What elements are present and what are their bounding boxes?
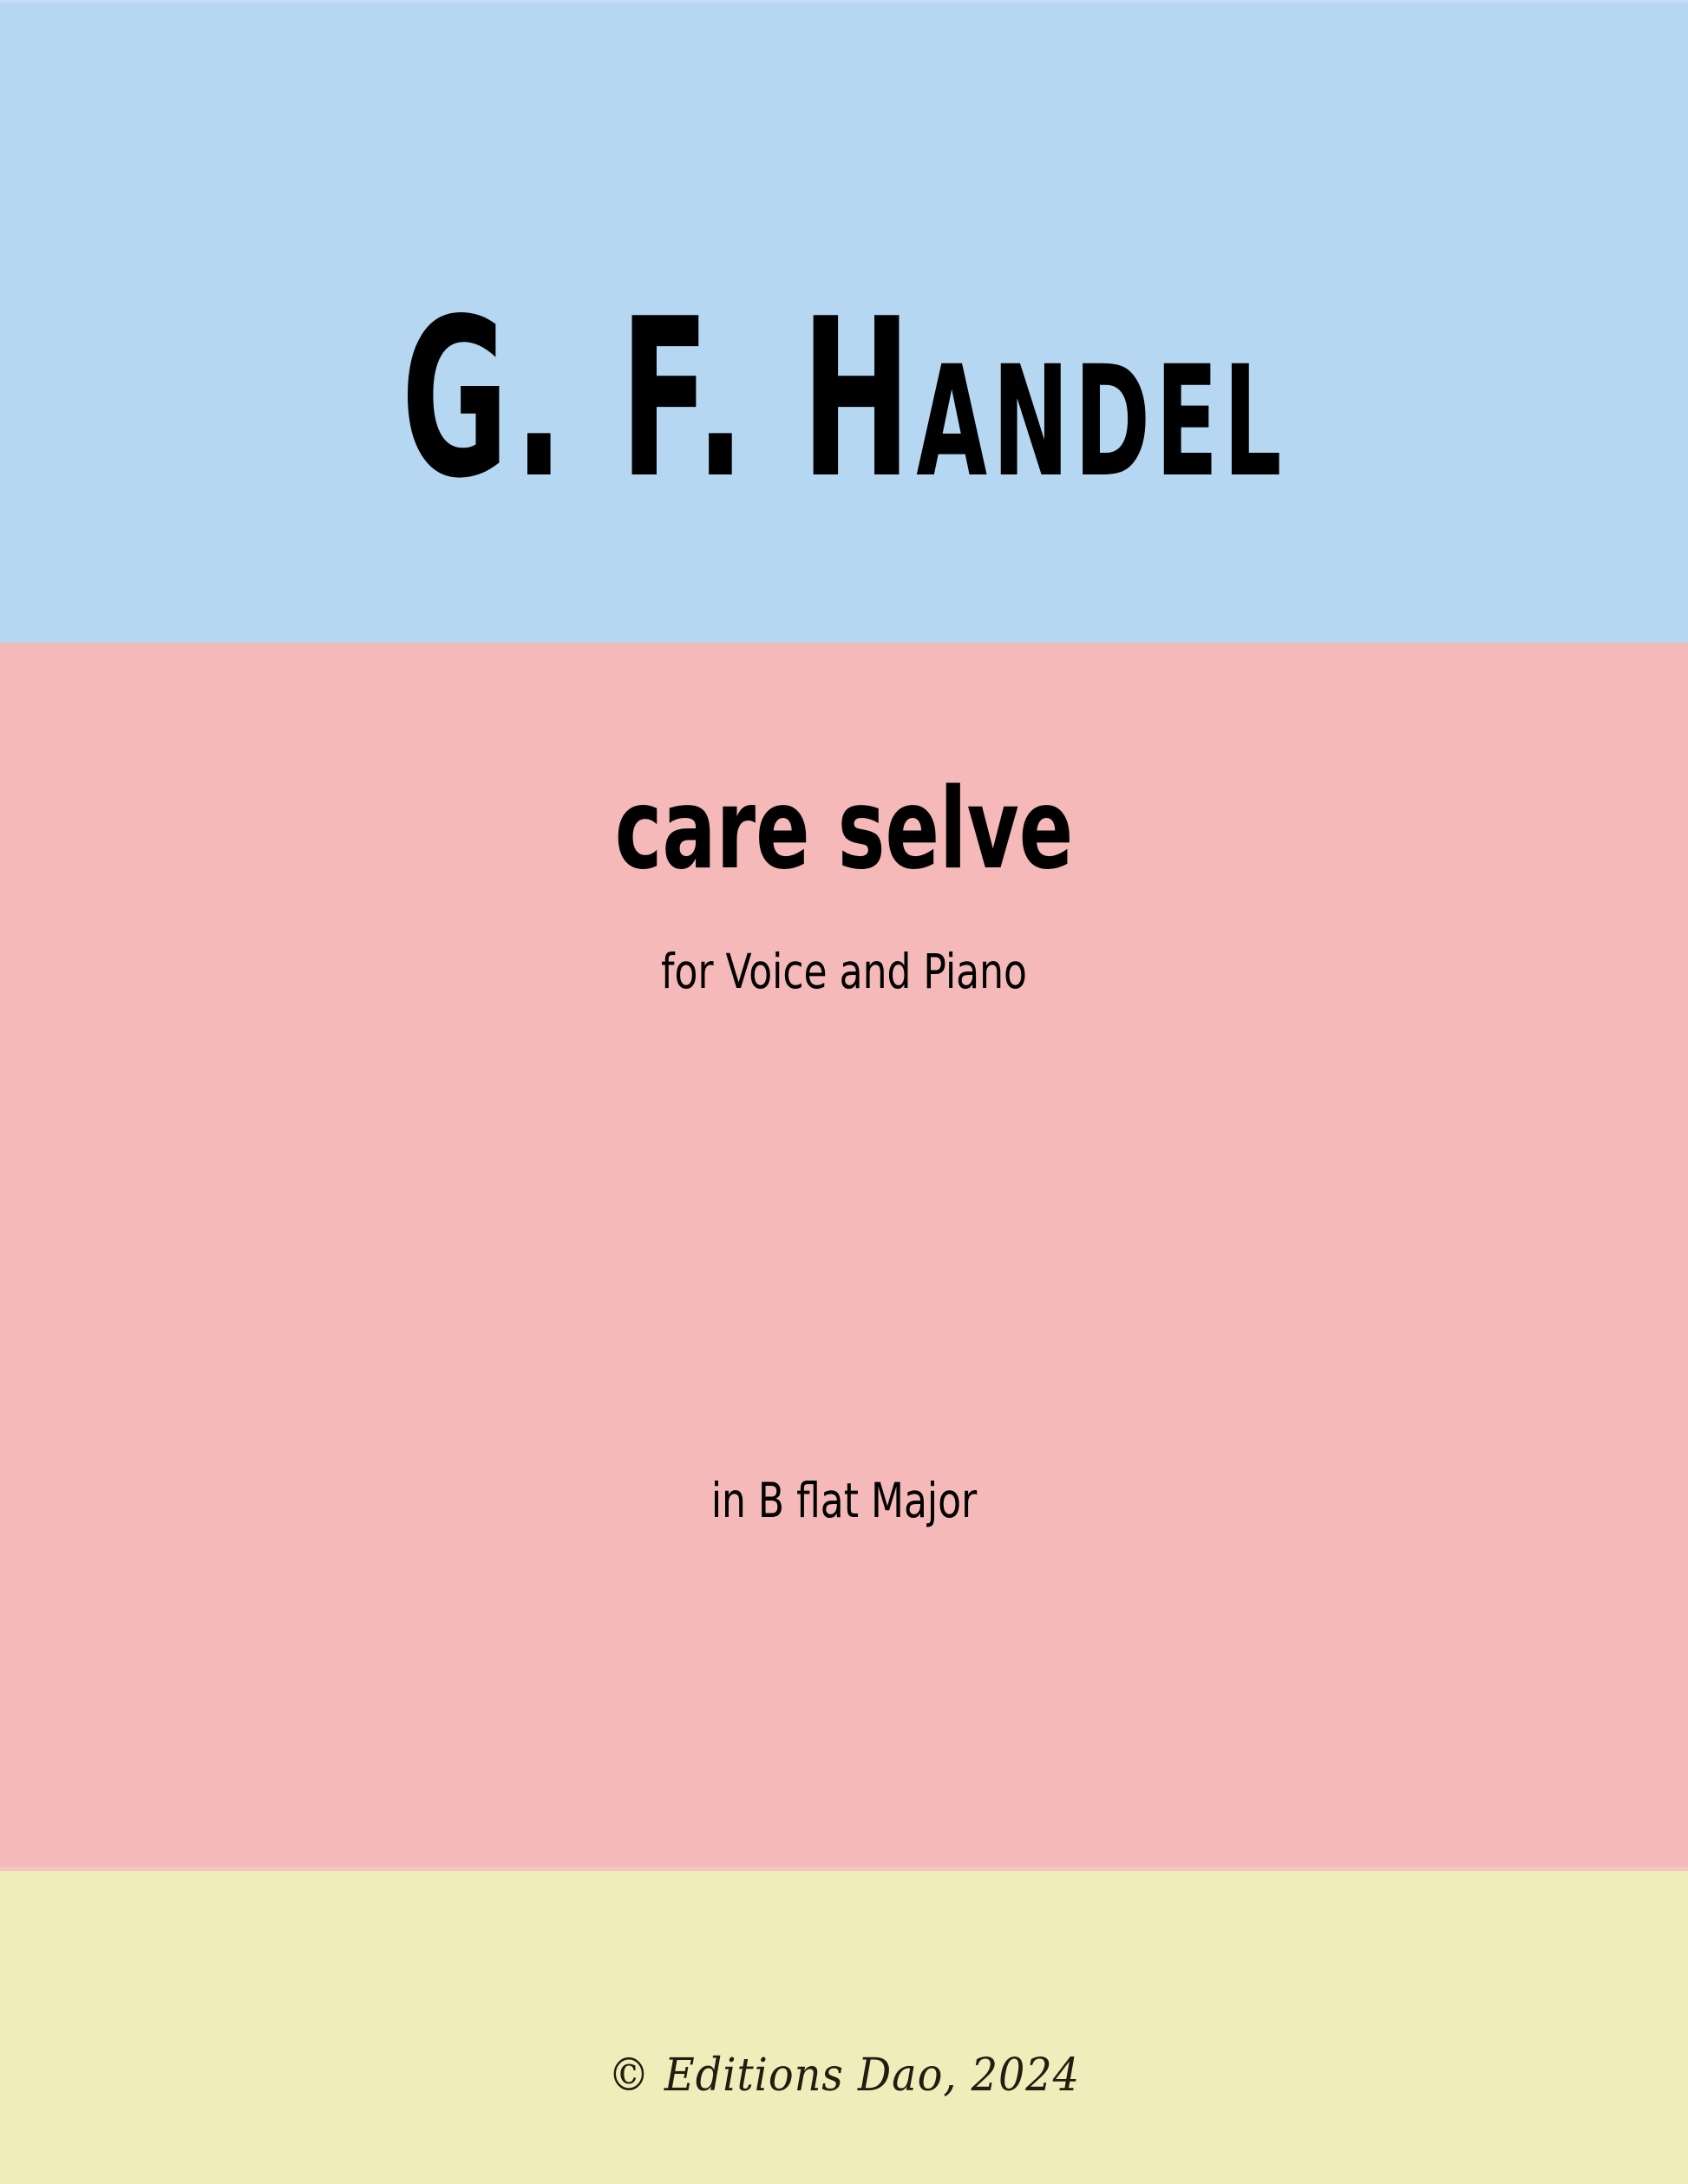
work-title: care selve [236, 775, 1451, 886]
composer-name: G. F. Handel [337, 291, 1351, 509]
instrumentation-line: for Voice and Piano [169, 948, 1520, 996]
top-edge-hairline [0, 0, 1688, 3]
copyright-line: © Editions Dao, 2024 [68, 2053, 1620, 2098]
key-designation: in B flat Major [169, 1477, 1520, 1525]
sheet-music-cover-page: G. F. Handel care selve for Voice and Pi… [0, 0, 1688, 2184]
publisher-color-band [0, 1871, 1688, 2184]
